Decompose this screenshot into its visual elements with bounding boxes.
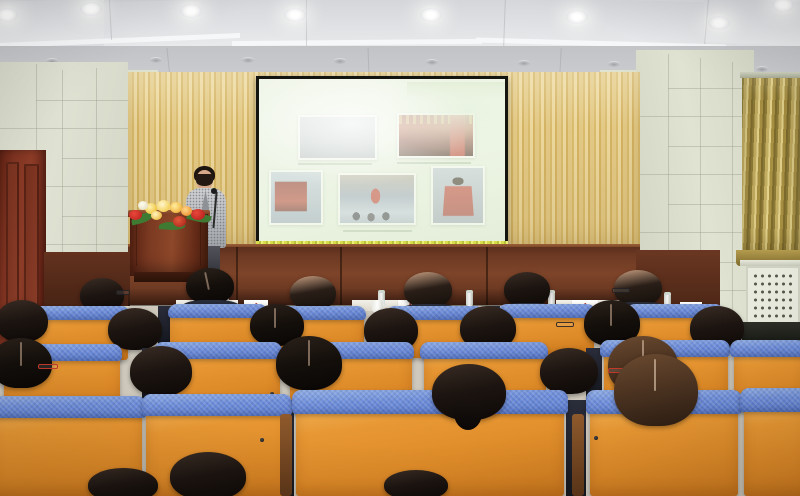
screen-surface <box>259 79 505 241</box>
attendee-head <box>504 272 550 307</box>
attendee-head <box>290 276 336 310</box>
seat-cushion[interactable] <box>0 396 146 418</box>
lily-orange <box>181 206 192 216</box>
downlight-3-icon <box>180 4 202 18</box>
attendee-head <box>540 348 598 394</box>
screen-glare <box>259 79 505 241</box>
ceiling-seam <box>306 0 307 46</box>
recessed-spot-icon <box>608 61 620 67</box>
radiator-cover-panel <box>746 266 800 324</box>
wall-seam <box>732 62 733 350</box>
eyeglasses-icon <box>556 322 574 327</box>
anthurium-red <box>129 210 142 220</box>
downlight-5-icon <box>420 8 442 22</box>
downlight-6-icon <box>566 10 588 24</box>
attendee-head <box>0 338 52 388</box>
seat-cushion[interactable] <box>420 342 548 359</box>
recessed-spot-icon <box>518 60 530 66</box>
seat-fastener <box>594 436 598 440</box>
eyeglasses-icon <box>612 288 630 293</box>
downlight-4-icon <box>284 8 306 22</box>
downlight-7-icon <box>708 16 730 30</box>
chrysanthemum-yellow <box>157 200 170 212</box>
eyeglasses-icon <box>116 290 130 295</box>
attendee-head <box>130 346 192 396</box>
seat-cushion[interactable] <box>498 304 596 318</box>
anthurium-red <box>173 216 186 227</box>
seat-cushion[interactable] <box>292 390 568 414</box>
attendee-head <box>88 468 158 496</box>
eyeglasses-icon <box>38 364 58 369</box>
recessed-spot-icon <box>334 58 346 64</box>
attendee-head <box>404 272 452 308</box>
recessed-spot-icon <box>150 57 162 63</box>
seat-cushion[interactable] <box>142 394 292 416</box>
recessed-spot-icon <box>242 57 254 63</box>
attendee-head <box>186 268 234 304</box>
seat-cushion[interactable] <box>740 388 800 412</box>
seat-cushion[interactable] <box>730 340 800 357</box>
seat-back[interactable] <box>744 402 800 496</box>
wall-seam <box>636 174 754 175</box>
recessed-spot-icon <box>426 59 438 65</box>
window-curtain[interactable] <box>742 78 800 264</box>
wall-seam <box>62 158 128 159</box>
wall-seam <box>36 100 128 101</box>
speaker-hair-back <box>196 174 213 186</box>
attendee-head <box>0 300 48 342</box>
seat-armrest <box>280 414 292 496</box>
auditorium-photo <box>0 0 800 496</box>
microphone-icon <box>211 188 217 194</box>
perforation-pattern <box>752 272 794 318</box>
water-bottle <box>466 290 473 307</box>
wall-seam <box>62 216 128 217</box>
anthurium-red <box>191 209 205 220</box>
attendee-head <box>614 354 698 426</box>
wall-seam <box>636 116 754 117</box>
attendee-head <box>276 336 342 390</box>
floral-arrangement <box>129 198 215 230</box>
attendee-head <box>384 470 448 496</box>
daisy-white <box>138 201 148 210</box>
attendee-head <box>170 452 246 496</box>
seat-fastener <box>260 438 264 442</box>
attendee-ponytail <box>454 396 482 430</box>
chrysanthemum-yellow <box>151 211 162 220</box>
wall-seam <box>636 232 754 233</box>
downlight-2-icon <box>80 2 102 16</box>
seat-armrest <box>572 414 584 496</box>
projection-screen[interactable] <box>256 76 508 244</box>
wall-seam <box>0 128 128 129</box>
